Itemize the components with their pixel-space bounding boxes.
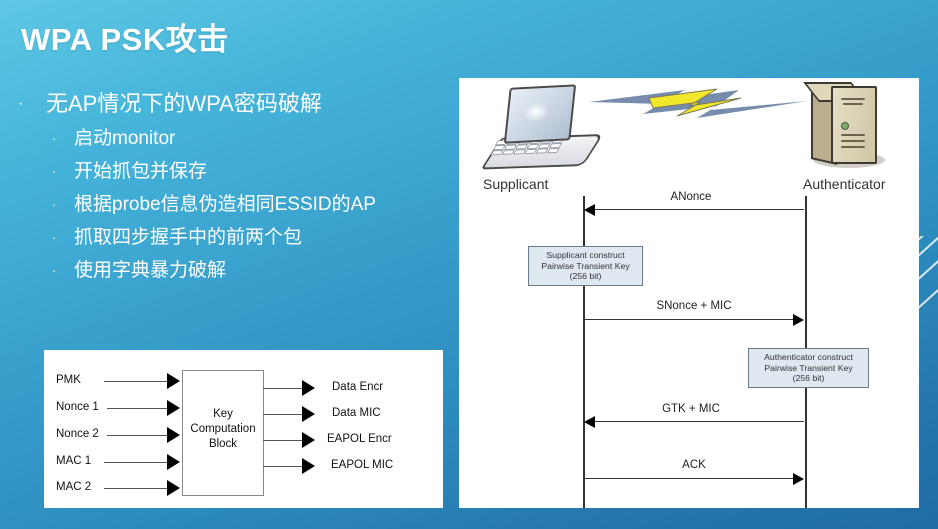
page-title: WPA PSK攻击 <box>21 14 229 59</box>
bullet-level1-label: 无AP情况下的WPA密码破解 <box>46 91 322 116</box>
lightning-bolt-icon <box>589 84 809 124</box>
key-input-label: Nonce 1 <box>56 401 99 413</box>
message-label: ACK <box>614 459 774 471</box>
laptop-icon <box>481 84 585 172</box>
note-line-2: Pairwise Transient Key <box>753 363 864 374</box>
actor-label-authenticator: Authenticator <box>803 176 886 192</box>
note-line-2: Pairwise Transient Key <box>533 261 638 272</box>
key-input-label: MAC 1 <box>56 455 91 467</box>
key-output-label: EAPOL MIC <box>331 459 393 471</box>
bullet-level2-label: 使用字典暴力破解 <box>74 260 226 281</box>
bullet-dot-icon: · <box>52 155 56 188</box>
bullet-level2-item: · 根据probe信息伪造相同ESSID的AP <box>14 188 454 221</box>
key-input-label: PMK <box>56 374 81 386</box>
note-supplicant-ptk: Supplicant construct Pairwise Transient … <box>528 246 643 286</box>
bullet-level2-item: · 抓取四步握手中的前两个包 <box>14 221 454 254</box>
key-block-line-2: Computation <box>183 422 263 436</box>
bullet-dot-icon: · <box>18 86 23 122</box>
server-icon <box>807 80 885 176</box>
message-label: ANonce <box>611 191 771 203</box>
actor-label-supplicant: Supplicant <box>483 176 548 192</box>
note-line-1: Supplicant construct <box>533 250 638 261</box>
bullet-level2-label: 开始抓包并保存 <box>74 161 207 182</box>
note-line-3: (256 bit) <box>533 271 638 282</box>
bullet-level2-label: 根据probe信息伪造相同ESSID的AP <box>74 194 376 215</box>
bullet-dot-icon: · <box>52 254 56 287</box>
note-authenticator-ptk: Authenticator construct Pairwise Transie… <box>748 348 869 388</box>
key-block-line-3: Block <box>183 437 263 451</box>
bullet-list: · 无AP情况下的WPA密码破解 · 启动monitor · 开始抓包并保存 ·… <box>14 86 454 287</box>
key-output-label: Data Encr <box>332 381 383 393</box>
bullet-level2-item: · 使用字典暴力破解 <box>14 254 454 287</box>
bullet-level2-item: · 开始抓包并保存 <box>14 155 454 188</box>
bullet-level1: · 无AP情况下的WPA密码破解 <box>14 86 454 122</box>
arrow-right-icon <box>793 314 804 326</box>
bullet-level2-item: · 启动monitor <box>14 122 454 155</box>
bullet-dot-icon: · <box>52 188 56 221</box>
lifeline-supplicant <box>583 196 585 508</box>
bullet-dot-icon: · <box>52 122 56 155</box>
bullet-dot-icon: · <box>52 221 56 254</box>
key-input-label: Nonce 2 <box>56 428 99 440</box>
key-output-label: EAPOL Encr <box>327 433 392 445</box>
bullet-level2-label: 抓取四步握手中的前两个包 <box>74 227 302 248</box>
key-computation-diagram: Key Computation Block PMK Nonce 1 Nonce … <box>44 350 443 508</box>
slide-canvas: WPA PSK攻击 · 无AP情况下的WPA密码破解 · 启动monitor ·… <box>0 0 938 529</box>
message-label: GTK + MIC <box>611 403 771 415</box>
arrow-right-icon <box>793 473 804 485</box>
handshake-sequence-diagram: Supplicant Authenticator ANonce Sup <box>459 78 919 508</box>
note-line-3: (256 bit) <box>753 373 864 384</box>
key-block-line-1: Key <box>183 407 263 421</box>
bullet-level2-label: 启动monitor <box>74 128 175 149</box>
key-computation-block-box: Key Computation Block <box>182 370 264 496</box>
arrow-left-icon <box>584 416 595 428</box>
note-line-1: Authenticator construct <box>753 352 864 363</box>
message-label: SNonce + MIC <box>614 300 774 312</box>
key-input-label: MAC 2 <box>56 481 91 493</box>
key-output-label: Data MIC <box>332 407 381 419</box>
arrow-left-icon <box>584 204 595 216</box>
